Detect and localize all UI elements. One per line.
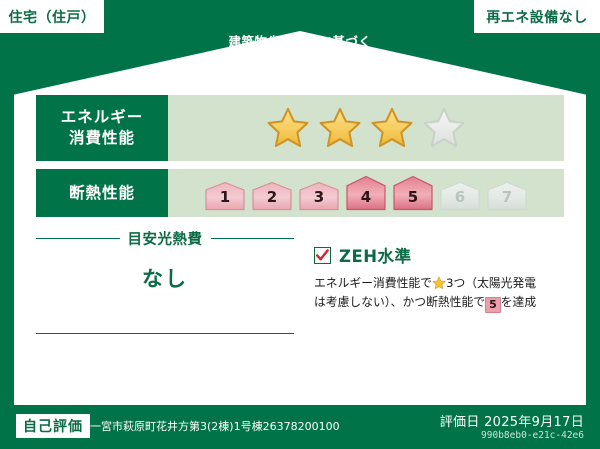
- label-footer: 自己評価 一宮市萩原町花井方第3(2棟)1号棟26378200100 評価日 2…: [0, 405, 600, 449]
- zeh-description: エネルギー消費性能で3つ（太陽光発電は考慮しない）、かつ断熱性能で5を達成: [314, 274, 564, 313]
- insulation-level-4: 4: [345, 175, 387, 211]
- star-icon-empty: [422, 106, 466, 150]
- star-icon-filled: [318, 106, 362, 150]
- zeh-checkbox[interactable]: [314, 247, 331, 264]
- star-icon: [432, 276, 446, 290]
- star-rating: [266, 106, 466, 150]
- zeh-standard-block: ZEH水準 エネルギー消費性能で3つ（太陽光発電は考慮しない）、かつ断熱性能で5…: [314, 243, 564, 313]
- insulation-level-7: 7: [486, 181, 528, 211]
- house-icon: [204, 181, 246, 211]
- label-id: 990b8eb0-e21c-42e6: [481, 430, 584, 441]
- utility-cost-label: 目安光熱費: [128, 228, 203, 249]
- zeh-title: ZEH水準: [339, 243, 412, 267]
- insulation-performance-label: 断熱性能: [36, 169, 168, 217]
- zeh-desc-part2: は考慮しない）、かつ断熱性能で: [314, 295, 485, 309]
- energy-label-root: 住宅（住戸） 再エネ設備なし 建築物省エネ法に基づく 省エネ性能ラベル エネルギ…: [0, 0, 600, 449]
- zeh-title-row: ZEH水準: [314, 243, 564, 267]
- self-evaluation-badge: 自己評価: [16, 414, 90, 438]
- insulation-performance-row: 断熱性能 1234567: [36, 169, 564, 217]
- check-icon: [316, 249, 329, 262]
- energy-performance-label: エネルギー 消費性能: [36, 95, 168, 161]
- insulation-level-6: 6: [439, 181, 481, 211]
- rule-left: [36, 238, 120, 239]
- rule-right: [211, 238, 295, 239]
- property-address: 一宮市萩原町花井方第3(2棟)1号棟26378200100: [90, 418, 340, 434]
- utility-cost-bottom-rule: [36, 333, 294, 334]
- star-icon-filled: [266, 106, 310, 150]
- white-house-panel: エネルギー 消費性能 断熱性能 1234567 目安光熱費: [14, 31, 586, 405]
- insulation-level-scale: 1234567: [204, 175, 528, 211]
- energy-label-line2: 消費性能: [69, 128, 135, 149]
- evaluation-date-label: 評価日: [440, 415, 480, 430]
- utility-cost-value: なし: [36, 263, 294, 293]
- zeh-desc-part3: を達成: [501, 295, 536, 309]
- housing-type-tag: 住宅（住戸）: [0, 0, 104, 33]
- house-icon: [439, 181, 481, 211]
- insulation-level-3: 3: [298, 181, 340, 211]
- star-icon-filled: [370, 106, 414, 150]
- evaluation-date-value: 2025年9月17日: [484, 415, 584, 430]
- house-icon: [251, 181, 293, 211]
- zeh-desc-level-chip: 5: [485, 297, 501, 313]
- insulation-level-2: 2: [251, 181, 293, 211]
- house-icon: [298, 181, 340, 211]
- house-icon: [392, 175, 434, 211]
- insulation-level-5: 5: [392, 175, 434, 211]
- zeh-desc-part1: エネルギー消費性能で: [314, 276, 432, 290]
- insulation-label-line1: 断熱性能: [69, 183, 135, 204]
- renewable-energy-tag: 再エネ設備なし: [474, 0, 600, 33]
- insulation-performance-value: 1234567: [168, 169, 564, 217]
- evaluation-date: 評価日 2025年9月17日: [440, 411, 584, 430]
- energy-label-line1: エネルギー: [61, 107, 144, 128]
- energy-performance-row: エネルギー 消費性能: [36, 95, 564, 161]
- utility-cost-heading: 目安光熱費: [36, 228, 294, 249]
- house-icon: [345, 175, 387, 211]
- insulation-level-1: 1: [204, 181, 246, 211]
- zeh-desc-stars: 3つ（太陽光発電: [446, 276, 536, 290]
- house-icon: [486, 181, 528, 211]
- energy-performance-value: [168, 95, 564, 161]
